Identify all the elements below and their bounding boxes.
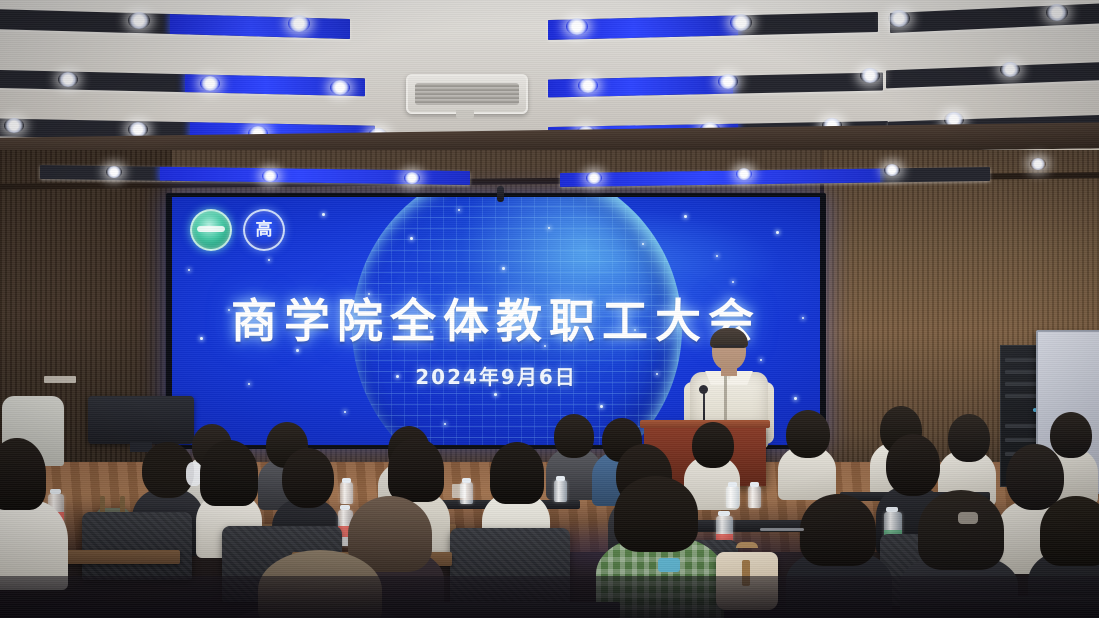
screen-logos: 高 bbox=[190, 209, 285, 251]
attendee-head bbox=[614, 476, 698, 552]
handbag-handle bbox=[736, 542, 758, 548]
air-vent bbox=[406, 74, 528, 114]
attendee-head bbox=[200, 440, 258, 506]
attendee-head bbox=[800, 494, 876, 566]
attendee-head bbox=[388, 438, 444, 502]
attendee-head bbox=[1050, 412, 1092, 458]
air-vent-grille bbox=[415, 83, 519, 105]
microphone-icon bbox=[699, 385, 708, 394]
ceiling-downlight bbox=[884, 164, 900, 176]
ceiling-downlight bbox=[288, 15, 310, 32]
bottle-cap bbox=[50, 489, 61, 494]
ceiling-downlight bbox=[718, 74, 738, 89]
conference-hall-photo: 高 商学院全体教职工大会 2024年9月6日 bbox=[0, 0, 1099, 618]
bottle-cap bbox=[718, 511, 730, 516]
bottle-cap bbox=[462, 478, 471, 483]
ceiling-downlight bbox=[1000, 62, 1020, 77]
ceiling-downlight bbox=[106, 166, 122, 178]
water-bottle bbox=[748, 486, 761, 508]
attendee-head bbox=[1006, 444, 1064, 510]
attendee-head bbox=[282, 448, 334, 508]
attendee-head bbox=[1040, 496, 1099, 566]
foreground-shadow bbox=[0, 576, 1099, 618]
bottle-cap bbox=[556, 476, 565, 481]
ceiling-sensor-icon bbox=[497, 186, 504, 202]
ceiling-downlight bbox=[586, 172, 602, 184]
bottle-cap bbox=[886, 507, 898, 512]
attendee-head bbox=[0, 438, 46, 510]
attendee-head bbox=[692, 422, 734, 468]
blue-circle-emblem-icon: 高 bbox=[243, 209, 285, 251]
water-bottle bbox=[726, 486, 739, 508]
water-bottle bbox=[554, 480, 567, 502]
ceiling-downlight bbox=[404, 172, 420, 184]
ceiling-downlight bbox=[128, 12, 150, 29]
ceiling-downlight bbox=[200, 76, 220, 91]
bottle-cap bbox=[728, 482, 737, 487]
attendee-head bbox=[948, 414, 990, 462]
phone-icon bbox=[658, 558, 680, 572]
ceiling-downlight bbox=[262, 170, 278, 182]
bottle-cap bbox=[342, 478, 351, 483]
ceiling-downlight bbox=[578, 78, 598, 93]
presenter-glasses-icon bbox=[714, 345, 744, 353]
attendee-head bbox=[490, 442, 544, 504]
ceiling-downlight bbox=[566, 18, 588, 35]
chair bbox=[82, 512, 192, 580]
air-vent-sensor bbox=[456, 110, 474, 119]
hair-clip-icon bbox=[958, 512, 978, 524]
ceiling-downlight bbox=[58, 72, 78, 87]
attendee-head bbox=[918, 490, 1004, 570]
ceiling-downlight bbox=[888, 10, 910, 27]
ceiling-downlight bbox=[860, 68, 880, 83]
ceiling-downlight bbox=[736, 168, 752, 180]
bottle-cap bbox=[750, 482, 759, 487]
ceiling-downlight bbox=[1046, 4, 1068, 21]
ceiling-downlight bbox=[1030, 158, 1046, 170]
bottle-cap bbox=[340, 505, 350, 510]
attendee-head bbox=[886, 434, 940, 496]
ceiling-downlight bbox=[730, 14, 752, 31]
attendee-head bbox=[554, 414, 594, 458]
ceiling-downlight bbox=[330, 80, 350, 95]
wall-label-plate bbox=[44, 376, 76, 383]
water-bottle bbox=[340, 482, 353, 504]
green-oval-emblem-icon bbox=[190, 209, 232, 251]
water-bottle bbox=[460, 482, 473, 504]
eyeglasses-icon bbox=[760, 528, 804, 531]
ceiling-downlight bbox=[4, 118, 24, 133]
attendee-head bbox=[786, 410, 830, 458]
